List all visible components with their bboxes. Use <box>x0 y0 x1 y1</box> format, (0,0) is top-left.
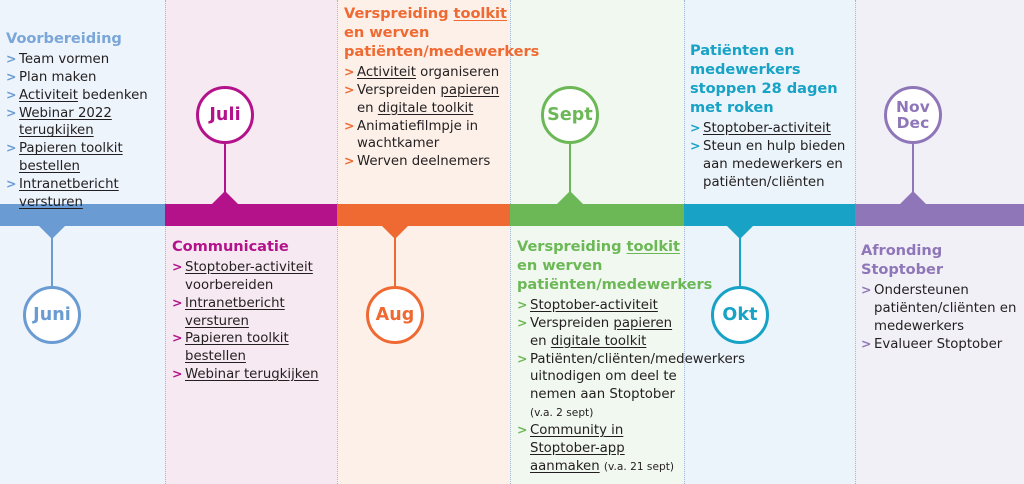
phase-item-list-novdec: >Ondersteunen patiënten/cliënten en mede… <box>861 282 1024 354</box>
phase-item: >Papieren toolkit bestellen <box>172 330 337 366</box>
timeline-bar-segment-novdec <box>855 204 1024 226</box>
phase-block-juni: Voorbereiding>Team vormen>Plan maken>Act… <box>6 30 164 212</box>
bullet-chevron-icon: > <box>861 336 871 353</box>
phase-item: >Intranetbericht versturen <box>6 176 164 212</box>
phase-item: >Community in Stoptober-app aanmaken (v.… <box>517 422 687 476</box>
bullet-chevron-icon: > <box>172 330 182 347</box>
month-sept[interactable]: Sept <box>541 86 599 144</box>
month-aug[interactable]: Aug <box>366 286 424 344</box>
bullet-chevron-icon: > <box>690 120 700 137</box>
phase-item: >Verspreiden papieren en digitale toolki… <box>344 82 512 118</box>
phase-item-list-juli: >Stoptober-activiteit voorbereiden>Intra… <box>172 259 337 384</box>
phase-block-sept: Verspreiding toolkit en werven patiënten… <box>517 238 687 476</box>
bullet-chevron-icon: > <box>6 87 16 104</box>
phase-item: >Evalueer Stoptober <box>861 336 1024 354</box>
month-label: Okt <box>722 306 757 324</box>
bullet-chevron-icon: > <box>517 297 527 314</box>
phase-item-list-sept: >Stoptober-activiteit>Verspreiden papier… <box>517 297 687 476</box>
phase-heading-aug: Verspreiding toolkit en werven patiënten… <box>344 5 512 62</box>
phase-item: >Verspreiden papieren en digitale toolki… <box>517 315 687 351</box>
bullet-chevron-icon: > <box>344 153 354 170</box>
bullet-chevron-icon: > <box>690 138 700 155</box>
bullet-chevron-icon: > <box>6 51 16 68</box>
phase-item: >Plan maken <box>6 69 164 87</box>
stoptober-timeline-infographic: JuniJuliAugSeptOktNovDecVoorbereiding>Te… <box>0 0 1024 484</box>
month-label: Aug <box>376 306 415 324</box>
phase-heading-sept: Verspreiding toolkit en werven patiënten… <box>517 238 687 295</box>
phase-item: >Stoptober-activiteit <box>517 297 687 315</box>
phase-item: >Webinar terugkijken <box>172 366 337 384</box>
phase-item: >Intranetbericht versturen <box>172 295 337 331</box>
bullet-chevron-icon: > <box>6 140 16 157</box>
phase-item-list-aug: >Activiteit organiseren>Verspreiden papi… <box>344 64 512 171</box>
month-stem-aug <box>394 226 396 286</box>
timeline-bar-segment-okt <box>684 204 855 226</box>
phase-heading-juli: Communicatie <box>172 238 337 257</box>
month-stem-sept <box>569 144 571 204</box>
bullet-chevron-icon: > <box>172 295 182 312</box>
phase-item: >Patiënten/cliënten/medewerkers uitnodig… <box>517 351 687 423</box>
phase-item: >Papieren toolkit bestellen <box>6 140 164 176</box>
bullet-chevron-icon: > <box>861 282 871 299</box>
timeline-bar-segment-aug <box>337 204 510 226</box>
bullet-chevron-icon: > <box>6 105 16 122</box>
phase-block-juli: Communicatie>Stoptober-activiteit voorbe… <box>172 238 337 384</box>
month-stem-juli <box>224 144 226 204</box>
phase-heading-novdec: Afronding Stoptober <box>861 242 1024 280</box>
phase-heading-juni: Voorbereiding <box>6 30 164 49</box>
bullet-chevron-icon: > <box>172 259 182 276</box>
month-novdec[interactable]: NovDec <box>884 86 942 144</box>
bullet-chevron-icon: > <box>6 176 16 193</box>
phase-item: >Activiteit organiseren <box>344 64 512 82</box>
phase-item: >Werven deelnemers <box>344 153 512 171</box>
month-stem-okt <box>739 226 741 286</box>
phase-item-list-okt: >Stoptober-activiteit>Steun en hulp bied… <box>690 120 856 192</box>
bullet-chevron-icon: > <box>517 422 527 439</box>
bullet-chevron-icon: > <box>344 64 354 81</box>
month-label: Juni <box>33 306 71 324</box>
timeline-bar-segment-sept <box>510 204 684 226</box>
bullet-chevron-icon: > <box>344 118 354 135</box>
month-label: Sept <box>547 106 593 124</box>
bullet-chevron-icon: > <box>6 69 16 86</box>
phase-item: >Webinar 2022 terugkijken <box>6 105 164 141</box>
phase-block-novdec: Afronding Stoptober>Ondersteunen patiënt… <box>861 242 1024 353</box>
phase-item-list-juni: >Team vormen>Plan maken>Activiteit beden… <box>6 51 164 212</box>
month-stem-novdec <box>912 144 914 204</box>
month-stem-juni <box>51 226 53 286</box>
month-juli[interactable]: Juli <box>196 86 254 144</box>
bullet-chevron-icon: > <box>517 351 527 368</box>
column-separator <box>337 0 338 484</box>
month-label: Juli <box>209 106 240 124</box>
bullet-chevron-icon: > <box>344 82 354 99</box>
bullet-chevron-icon: > <box>172 366 182 383</box>
bullet-chevron-icon: > <box>517 315 527 332</box>
month-label: NovDec <box>896 99 930 131</box>
phase-block-okt: Patiënten en medewerkers stoppen 28 dage… <box>690 42 856 191</box>
phase-item: >Stoptober-activiteit voorbereiden <box>172 259 337 295</box>
phase-item: >Animatiefilmpje in wachtkamer <box>344 118 512 154</box>
phase-item: >Team vormen <box>6 51 164 69</box>
phase-item: >Stoptober-activiteit <box>690 120 856 138</box>
phase-block-aug: Verspreiding toolkit en werven patiënten… <box>344 5 512 171</box>
phase-item: >Steun en hulp bieden aan medewerkers en… <box>690 138 856 192</box>
phase-item: >Activiteit bedenken <box>6 87 164 105</box>
column-separator <box>165 0 166 484</box>
phase-heading-okt: Patiënten en medewerkers stoppen 28 dage… <box>690 42 856 118</box>
timeline-bar-segment-juli <box>165 204 337 226</box>
month-juni[interactable]: Juni <box>23 286 81 344</box>
phase-item: >Ondersteunen patiënten/cliënten en mede… <box>861 282 1024 336</box>
month-okt[interactable]: Okt <box>711 286 769 344</box>
